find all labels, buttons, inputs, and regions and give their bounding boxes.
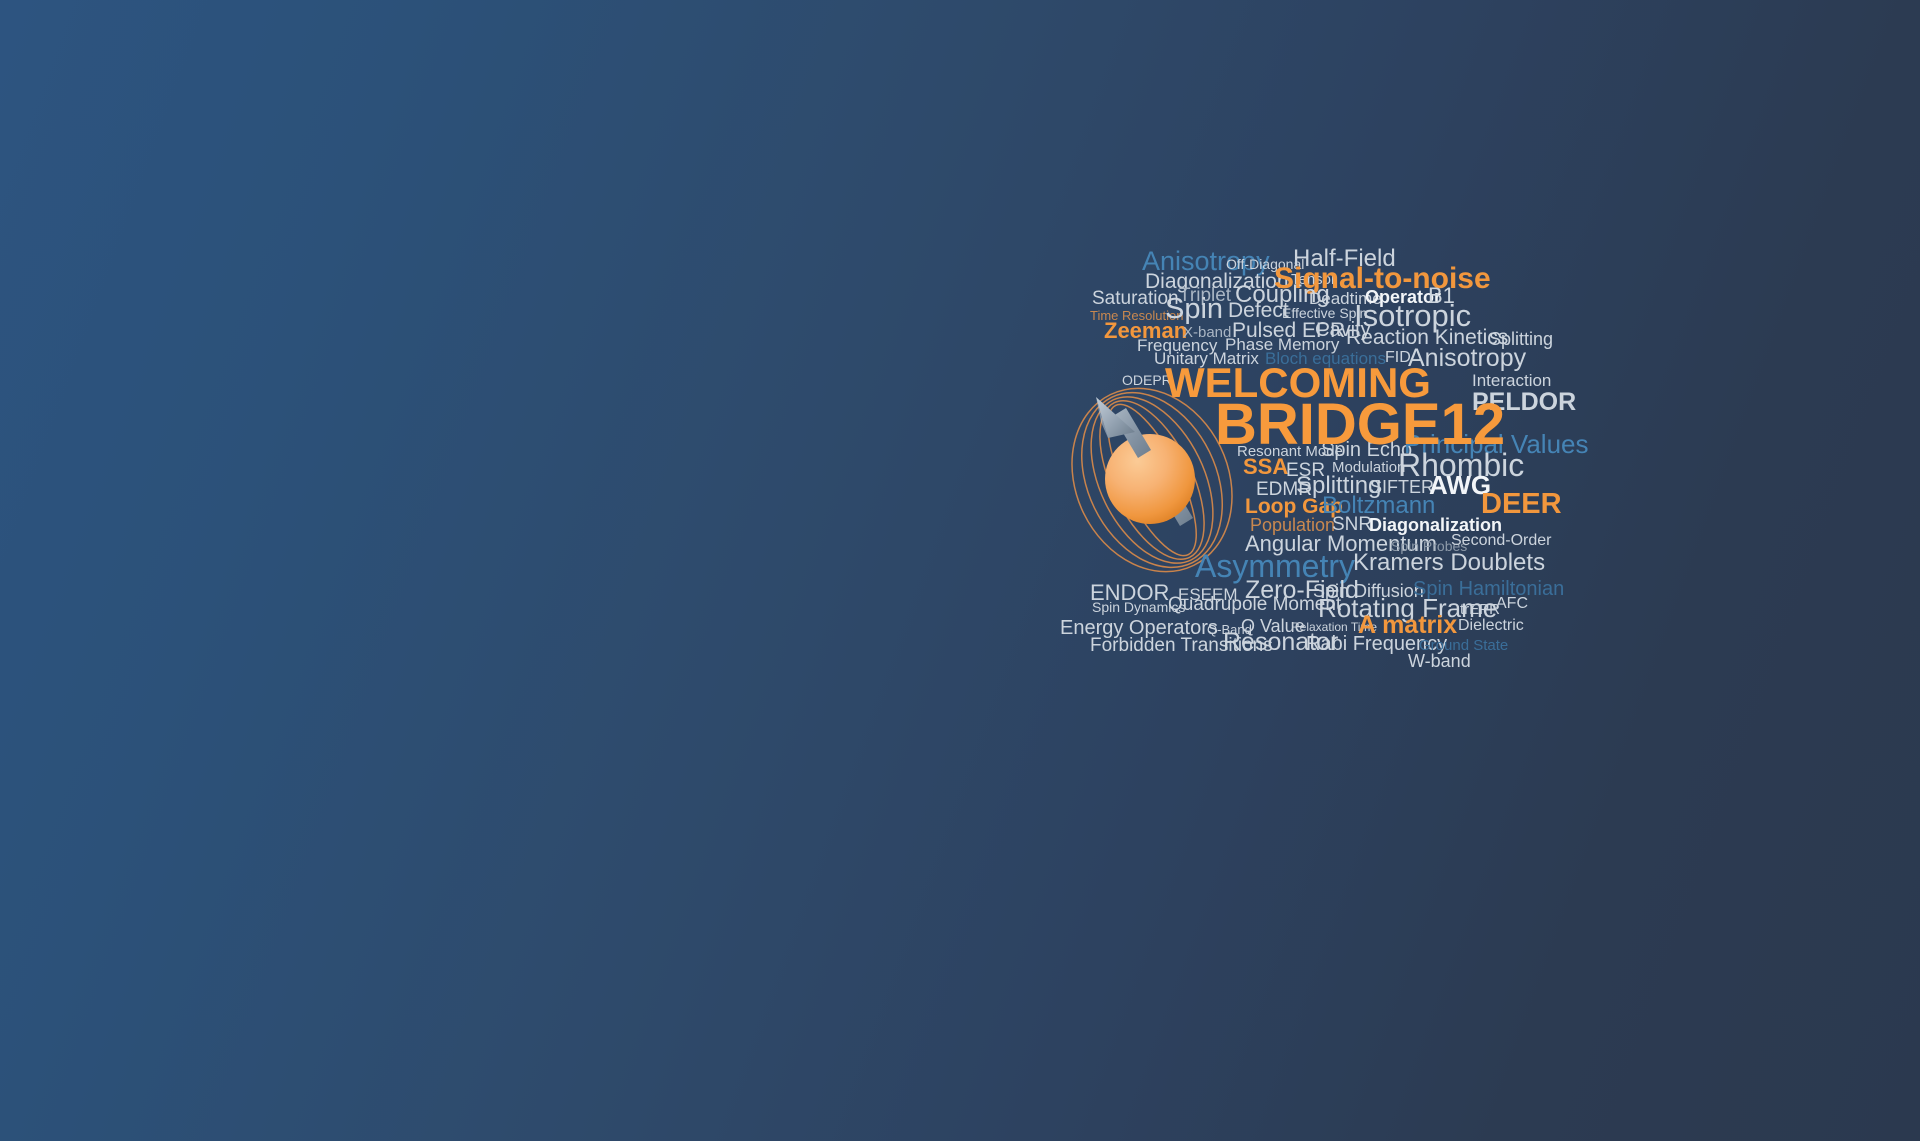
cloud-word-ssa: SSA xyxy=(1243,456,1288,478)
cloud-word-dielectric: Dielectric xyxy=(1458,618,1524,634)
cloud-word-second-order: Second-Order xyxy=(1451,533,1552,549)
cloud-word-trepr: trEPR xyxy=(1460,602,1500,617)
cloud-word-kramers-doublets: Kramers Doublets xyxy=(1353,551,1545,575)
cloud-word-interaction: Interaction xyxy=(1472,372,1551,389)
headline-word-bridge12: BRIDGE12 xyxy=(1215,396,1505,454)
cloud-word-quadrupole-moment: Quadrupole Moment xyxy=(1168,595,1341,614)
word-cloud: AnisotropyOff-DiagonalHalf-FieldDiagonal… xyxy=(1060,238,1920,668)
cloud-word-afc: AFC xyxy=(1496,596,1528,612)
cloud-word-w-band: W-band xyxy=(1408,652,1471,670)
cloud-word-defect: Defect xyxy=(1228,300,1289,321)
